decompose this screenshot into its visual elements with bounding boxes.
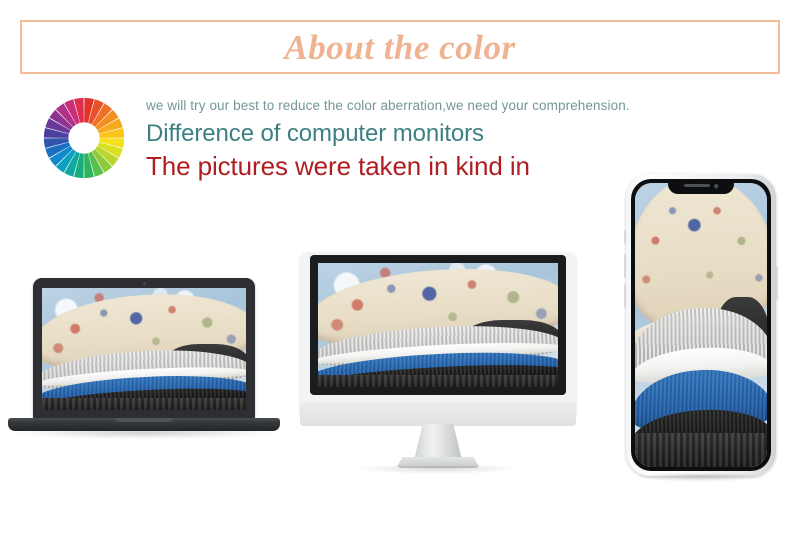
phone-body: [626, 174, 776, 476]
phone-notch: [668, 179, 734, 194]
phone-camera-icon: [714, 184, 719, 189]
laptop-trackpad-notch: [115, 418, 173, 422]
photo-floor: [635, 433, 767, 467]
phone-speaker-icon: [684, 184, 710, 187]
phone-power-button: [776, 266, 778, 300]
color-aberration-note: we will try our best to reduce the color…: [146, 96, 766, 116]
laptop-lid: [33, 278, 255, 420]
phone-screen-product-photo: [635, 183, 767, 467]
photo-floor: [318, 375, 558, 387]
monitor-difference-headline: Difference of computer monitors: [146, 119, 766, 149]
phone-mockup: [626, 174, 776, 476]
color-notice-text: we will try our best to reduce the color…: [146, 96, 766, 182]
monitor-shadow: [358, 466, 518, 474]
monitor-mockup: [288, 252, 588, 480]
phone-shadow: [636, 474, 766, 482]
laptop-mockup: [8, 278, 280, 438]
section-title-box: About the color: [20, 20, 780, 74]
phone-volume-up-button: [624, 254, 626, 278]
monitor-chin: [300, 402, 576, 426]
laptop-screen-product-photo: [42, 288, 246, 410]
monitor-body: [300, 252, 576, 416]
monitor-stand-neck: [414, 424, 462, 460]
phone-bezel: [631, 179, 771, 471]
phone-volume-down-button: [624, 284, 626, 308]
color-wheel-icon: [43, 97, 125, 179]
monitor-bezel: [310, 255, 566, 395]
photo-floor: [42, 398, 246, 410]
page-title: About the color: [284, 30, 515, 65]
monitor-screen-product-photo: [318, 263, 558, 387]
laptop-shadow: [14, 430, 274, 439]
laptop-camera-icon: [143, 282, 146, 285]
phone-mute-switch: [624, 230, 626, 244]
product-color-notice-banner: About the color we will try our best to …: [0, 0, 800, 541]
